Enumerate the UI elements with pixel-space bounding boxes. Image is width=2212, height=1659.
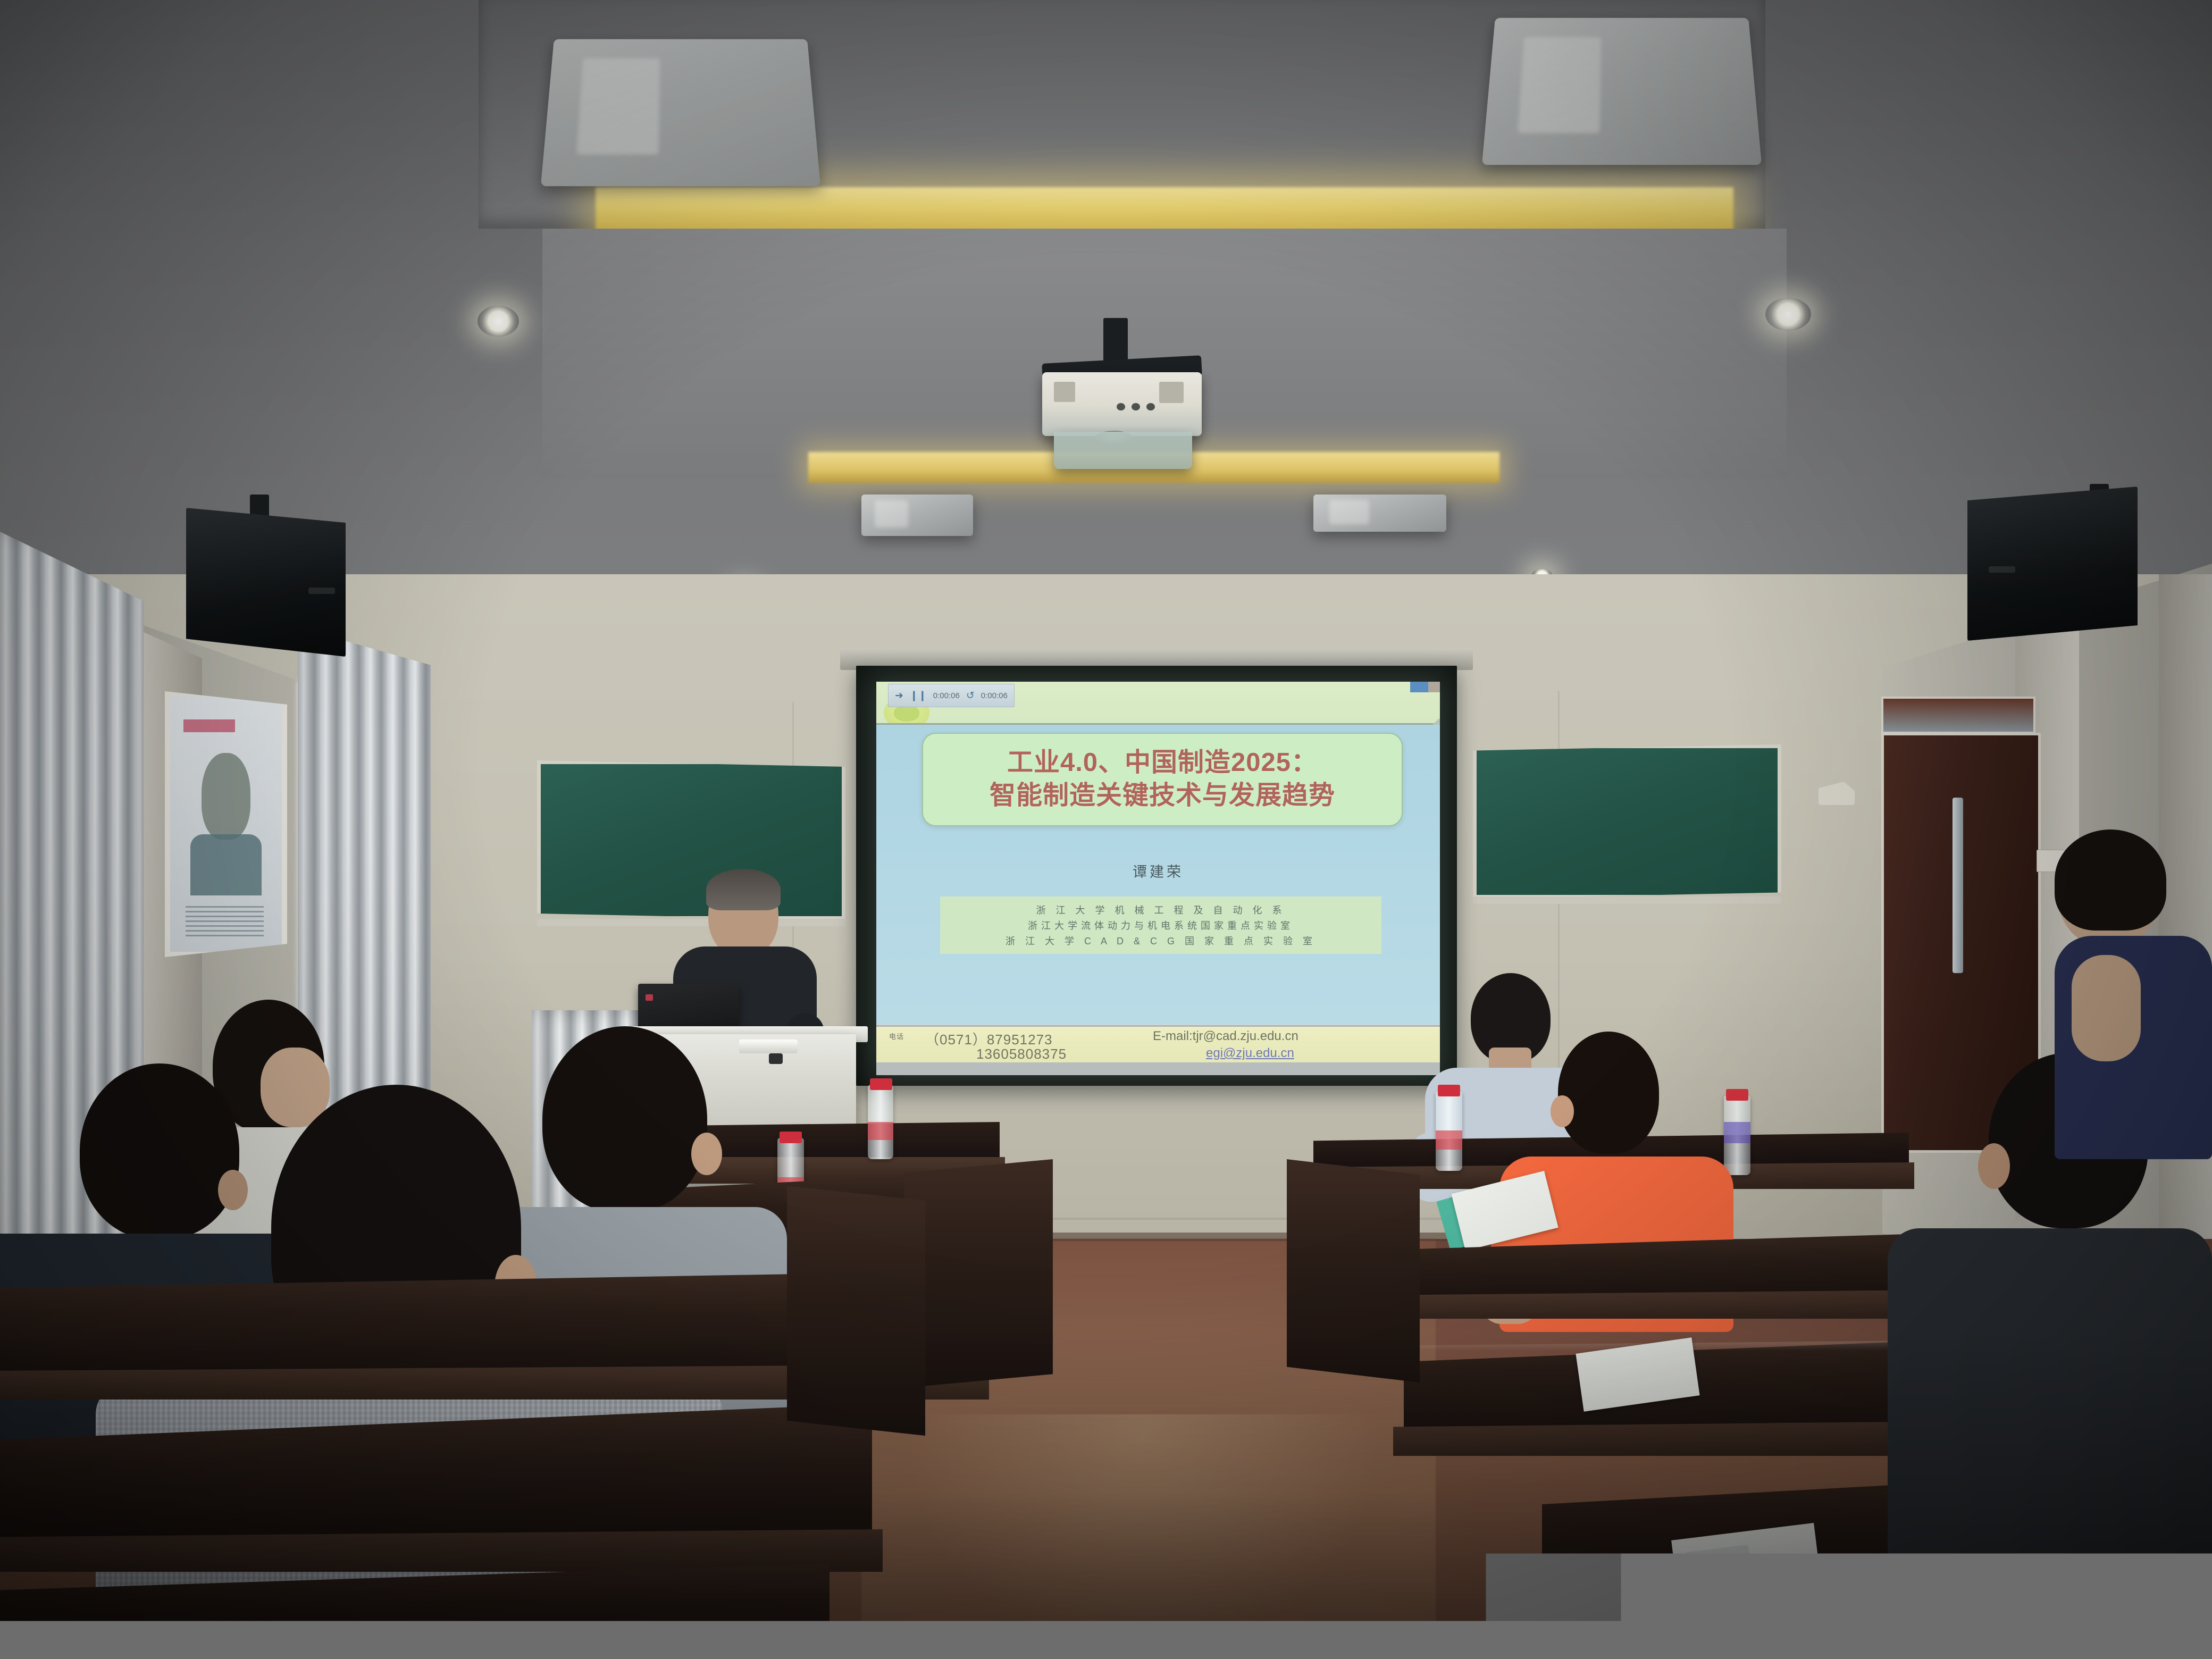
chalk-tray-right <box>1473 896 1781 904</box>
presenter-hair <box>706 869 781 910</box>
bench-back-center-right <box>904 1159 1053 1388</box>
door-handle <box>1953 798 1963 973</box>
affiliation-line-3: 浙 江 大 学 C A D & C G 国 家 重 点 实 验 室 <box>1006 934 1316 948</box>
ceiling-panel-light-left <box>541 39 820 186</box>
poster-text-lines <box>186 906 264 939</box>
slide-footer-contact: 电话 （0571）87951273 13605808375 E-mail:tjr… <box>876 1025 1440 1064</box>
affiliation-line-2: 浙江大学流体动力与机电系统国家重点实验室 <box>1028 918 1294 932</box>
projector-control-2 <box>1132 403 1140 410</box>
audience-7-ear <box>1978 1143 2010 1189</box>
projector-vent-left <box>1054 382 1075 402</box>
audience-7-torso <box>1888 1228 2212 1659</box>
woman-hair <box>2055 829 2166 931</box>
poster-header-band <box>183 719 235 732</box>
ceiling-panel-light-mid-right <box>1313 495 1446 532</box>
slide-elapsed-time: 0:00:06 <box>933 691 960 700</box>
rehearsal-timing-toolbar[interactable]: ➜ ❙❙ 0:00:06 ↺ 0:00:06 <box>888 684 1015 707</box>
bottle-label-right-1 <box>1436 1130 1462 1150</box>
poster-face <box>170 697 282 952</box>
audience-6-ear <box>1551 1095 1574 1127</box>
speaker-sheen-left <box>308 588 335 594</box>
footer-phone-label: 电话 <box>889 1031 904 1041</box>
projection-screen: 工业4.0、中国制造2025： 智能制造关键技术与发展趋势 谭建荣 浙 江 大 … <box>876 682 1440 1075</box>
door-transom-window <box>1881 697 2035 734</box>
slide-corner-tag-2 <box>1428 682 1440 692</box>
footer-email-secondary[interactable]: egi@zju.edu.cn <box>1206 1046 1294 1061</box>
projector-control-1 <box>1117 403 1125 410</box>
framed-portrait-poster <box>165 691 287 957</box>
bench-back-center-left <box>787 1186 925 1436</box>
bottle-cap-right-1 <box>1438 1085 1460 1096</box>
lecture-hall-photo: 工业4.0、中国制造2025： 智能制造关键技术与发展趋势 谭建荣 浙 江 大 … <box>0 0 2212 1659</box>
poster-portrait-body <box>190 834 262 895</box>
bottle-cap-left-2 <box>870 1078 892 1090</box>
speaker-sheen-right <box>1989 566 2015 573</box>
woman-shoulder-skin <box>2072 955 2141 1061</box>
slide-title-box: 工业4.0、中国制造2025： 智能制造关键技术与发展趋势 <box>922 733 1403 826</box>
standing-woman-navy-top <box>2042 829 2212 1159</box>
projector-mount-pole <box>1103 318 1128 366</box>
projector-control-3 <box>1146 403 1155 410</box>
wall-speaker-left <box>186 508 346 657</box>
bottle-label-left-2 <box>868 1122 893 1140</box>
projector-underside <box>1054 432 1192 469</box>
poster-portrait-head <box>202 753 250 840</box>
affiliation-line-1: 浙 江 大 学 机 械 工 程 及 自 动 化 系 <box>1036 903 1285 917</box>
audience-6-head <box>1558 1032 1659 1154</box>
slide-title-line-2: 智能制造关键技术与发展趋势 <box>990 780 1335 812</box>
total-elapsed-time: 0:00:06 <box>981 691 1008 700</box>
ceiling-panel-light-right <box>1482 18 1762 165</box>
slide-bottom-bar <box>876 1062 1440 1075</box>
next-slide-arrow-icon[interactable]: ➜ <box>895 690 903 702</box>
chalkboard-right <box>1473 744 1781 899</box>
slide-affiliations: 浙 江 大 学 机 械 工 程 及 自 动 化 系 浙江大学流体动力与机电系统国… <box>940 896 1381 954</box>
repeat-slide-icon[interactable]: ↺ <box>966 690 975 702</box>
slide-title-line-1: 工业4.0、中国制造2025： <box>1007 747 1318 780</box>
pause-icon[interactable]: ❙❙ <box>910 690 927 702</box>
downlight-right <box>1765 298 1811 331</box>
footer-email-primary: E-mail:tjr@cad.zju.edu.cn <box>1153 1029 1298 1044</box>
downlight-left <box>477 306 519 337</box>
laptop-indicator-icon <box>646 994 653 1001</box>
slide-author: 谭建荣 <box>876 860 1440 881</box>
wall-speaker-right <box>1967 487 2138 641</box>
floor-reflection <box>904 1414 1382 1659</box>
ceiling-panel-light-mid-left <box>861 495 973 536</box>
projector-vent-right <box>1159 382 1184 403</box>
bench-back-right-aisle <box>1287 1159 1420 1382</box>
footer-mobile: 13605808375 <box>976 1046 1067 1062</box>
